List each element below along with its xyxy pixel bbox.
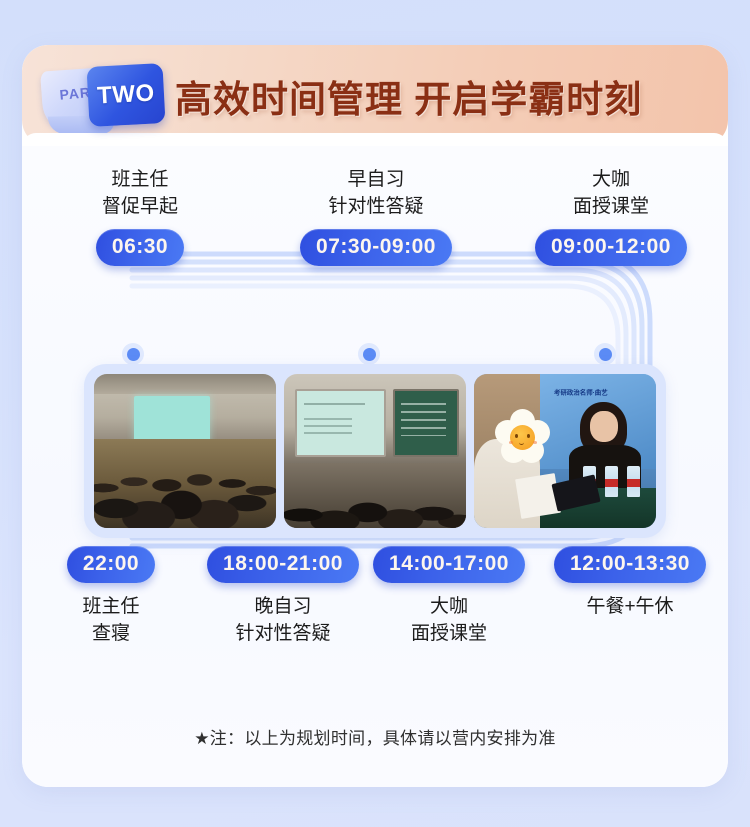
timeline-time-badge[interactable]: 22:00 [67, 546, 155, 583]
header-banner: PART TWO 高效时间管理 开启学霸时刻 [22, 45, 728, 146]
timeline-label-line2: 督促早起 [22, 193, 258, 220]
timeline-item-top-3[interactable]: 大咖 面授课堂 09:00-12:00 [494, 166, 728, 276]
timeline-item-bottom-3[interactable]: 14:00-17:00 大咖 面授课堂 [366, 546, 532, 666]
timeline-label-line1: 班主任 [22, 593, 200, 620]
timeline-dot-top-3 [594, 343, 616, 365]
timeline-time-badge[interactable]: 09:00-12:00 [535, 229, 687, 266]
photo-speaker-face [590, 411, 617, 442]
main-card: PART TWO 高效时间管理 开启学霸时刻 班主任 督促早起 06:30 [22, 45, 728, 787]
timeline-bottom-row: 22:00 班主任 查寝 18:00-21:00 晚自习 针对性答疑 14:00… [22, 546, 728, 666]
timeline-dot-top-1 [122, 343, 144, 365]
photo-bottle [605, 466, 618, 497]
timeline-label-line2: 面授课堂 [366, 620, 532, 647]
timeline-label-line1: 大咖 [494, 166, 728, 193]
page-title: 高效时间管理 开启学霸时刻 [175, 69, 642, 123]
timeline-label-line1: 晚自习 [200, 593, 366, 620]
timeline-label-line2: 面授课堂 [494, 193, 728, 220]
photo-blackboard-shape [393, 389, 459, 457]
timeline-item-top-1[interactable]: 班主任 督促早起 06:30 [22, 166, 258, 276]
timeline-item-bottom-1[interactable]: 22:00 班主任 查寝 [22, 546, 200, 666]
photo-projector-screen [134, 396, 210, 445]
timeline-label-line1: 午餐+午休 [532, 593, 728, 620]
photo-projection-shape [295, 389, 386, 457]
ribbon-number-label: TWO [86, 63, 165, 127]
timeline-item-top-2[interactable]: 早自习 针对性答疑 07:30-09:00 [258, 166, 494, 276]
timeline-label-line1: 大咖 [366, 593, 532, 620]
photo-audience-shape [284, 463, 466, 528]
timeline-time-badge[interactable]: 12:00-13:30 [554, 546, 706, 583]
photo-audience-shape [94, 439, 276, 528]
part-ribbon-badge: PART TWO [40, 61, 166, 131]
timeline-top-row: 班主任 督促早起 06:30 早自习 针对性答疑 07:30-09:00 大咖 … [22, 166, 728, 276]
timeline-item-bottom-4[interactable]: 12:00-13:30 午餐+午休 [532, 546, 728, 666]
photo-ceiling-shape [94, 374, 276, 394]
photo-strip: 考研政治名师·曲艺 [84, 364, 666, 538]
timeline-time-badge[interactable]: 06:30 [96, 229, 184, 266]
timeline-time-badge[interactable]: 07:30-09:00 [300, 229, 452, 266]
timeline-label-line1: 早自习 [258, 166, 494, 193]
photo-lecture-hall[interactable] [94, 374, 276, 528]
timeline-label-line2: 查寝 [22, 620, 200, 647]
timeline-item-bottom-2[interactable]: 18:00-21:00 晚自习 针对性答疑 [200, 546, 366, 666]
photo-classroom-blackboard[interactable] [284, 374, 466, 528]
photo-backdrop-text: 考研政治名师·曲艺 [554, 388, 608, 397]
timeline-time-badge[interactable]: 14:00-17:00 [373, 546, 525, 583]
timeline-label-line1: 班主任 [22, 166, 258, 193]
footnote-text: ★注：以上为规划时间，具体请以营内安排为准 [22, 724, 728, 749]
photo-bottle [627, 466, 640, 497]
timeline-dot-top-2 [358, 343, 380, 365]
timeline-label-line2: 针对性答疑 [200, 620, 366, 647]
timeline-time-badge[interactable]: 18:00-21:00 [207, 546, 359, 583]
photo-speaker-table[interactable]: 考研政治名师·曲艺 [474, 374, 656, 528]
flower-sticker-icon [496, 411, 550, 465]
timeline-label-line2: 针对性答疑 [258, 193, 494, 220]
content-area: 班主任 督促早起 06:30 早自习 针对性答疑 07:30-09:00 大咖 … [22, 146, 728, 787]
